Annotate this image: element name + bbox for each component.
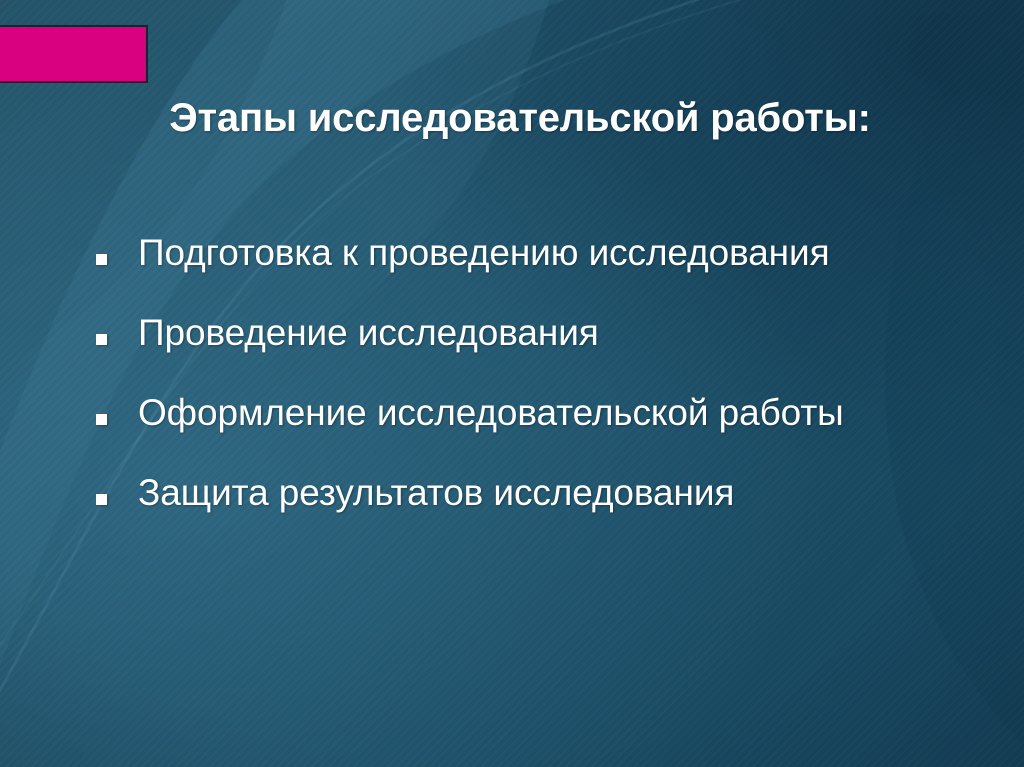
list-item: Защита результатов исследования <box>96 472 996 552</box>
list-item: Оформление исследовательской работы <box>96 392 996 472</box>
square-bullet-icon <box>96 414 107 425</box>
page-title: Этапы исследовательской работы: <box>60 96 980 140</box>
list-item-label: Оформление исследовательской работы <box>138 392 996 433</box>
magenta-accent-rectangle <box>0 25 148 83</box>
bullet-list: Подготовка к проведению исследования Про… <box>96 232 996 552</box>
list-item-label: Защита результатов исследования <box>138 472 996 513</box>
list-item-label: Подготовка к проведению исследования <box>138 232 996 273</box>
square-bullet-icon <box>96 254 107 265</box>
presentation-slide: Этапы исследовательской работы: Подготов… <box>0 0 1024 767</box>
square-bullet-icon <box>96 334 107 345</box>
square-bullet-icon <box>96 494 107 505</box>
list-item: Проведение исследования <box>96 312 996 392</box>
list-item-label: Проведение исследования <box>138 312 996 353</box>
list-item: Подготовка к проведению исследования <box>96 232 996 312</box>
